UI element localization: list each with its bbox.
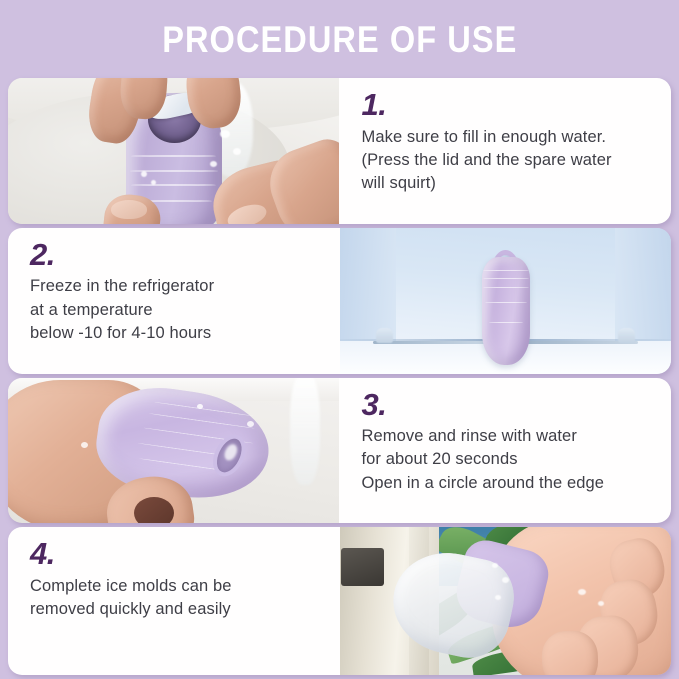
mold-ridge <box>483 270 529 271</box>
mold-pleat <box>155 401 254 416</box>
step-row-2: 2. Freeze in the refrigerator at a tempe… <box>8 228 671 374</box>
freezer-clip <box>618 328 635 343</box>
step-description: Freeze in the refrigerator at a temperat… <box>30 275 322 345</box>
mold-swirl <box>131 155 216 157</box>
step-1-text-panel: 1. Make sure to fill in enough water. (P… <box>339 78 671 224</box>
step-description: Complete ice molds can be removed quickl… <box>30 575 322 622</box>
step-row-1: 1. Make sure to fill in enough water. (P… <box>8 78 671 224</box>
photo-filling-mold-with-water <box>8 78 339 224</box>
step-number: 4. <box>30 538 322 571</box>
step-number: 2. <box>30 239 322 272</box>
steps-grid: 1. Make sure to fill in enough water. (P… <box>8 78 671 675</box>
mold-ridge <box>489 322 524 323</box>
header-bar: PROCEDURE OF USE <box>0 0 679 78</box>
step-text-line: Open in a circle around the edge <box>361 472 653 495</box>
step-4-text-panel: 4. Complete ice molds can be removed qui… <box>8 527 340 675</box>
step-text-line: will squirt) <box>361 172 653 195</box>
step-text-line: below -10 for 4-10 hours <box>30 322 322 345</box>
photo-rinsing-mold <box>8 378 339 524</box>
step-number: 3. <box>361 389 653 422</box>
water-droplet <box>81 442 88 448</box>
water-droplet <box>197 404 203 409</box>
step-text-line: for about 20 seconds <box>361 448 653 471</box>
step-text-line: Complete ice molds can be <box>30 575 322 598</box>
step-number: 1. <box>361 89 653 122</box>
step-description: Remove and rinse with water for about 20… <box>361 425 653 495</box>
water-stream <box>290 378 320 486</box>
fingernail <box>111 200 147 219</box>
step-2-text-panel: 2. Freeze in the refrigerator at a tempe… <box>8 228 340 374</box>
photo-finished-ice-mold <box>340 527 671 675</box>
step-description: Make sure to fill in enough water. (Pres… <box>361 126 653 196</box>
freezer-clip <box>376 328 393 343</box>
wall-vent <box>341 548 384 586</box>
mold-ridge <box>483 278 529 279</box>
page-title: PROCEDURE OF USE <box>162 21 517 58</box>
step-row-4: 4. Complete ice molds can be removed qui… <box>8 527 671 675</box>
silicone-mold <box>482 257 530 365</box>
step-text-line: Freeze in the refrigerator <box>30 275 322 298</box>
water-droplet <box>151 180 156 185</box>
step-text-line: (Press the lid and the spare water <box>361 149 653 172</box>
mold-ridge <box>483 287 529 288</box>
water-droplet <box>141 171 147 177</box>
step-3-text-panel: 3. Remove and rinse with water for about… <box>339 378 671 524</box>
water-droplet <box>492 563 498 568</box>
step-text-line: Remove and rinse with water <box>361 425 653 448</box>
mold-swirl <box>131 184 216 186</box>
water-droplet <box>247 421 254 427</box>
photo-mold-in-freezer <box>340 228 671 374</box>
mold-ridge <box>485 302 527 303</box>
step-row-3: 3. Remove and rinse with water for about… <box>8 378 671 524</box>
step-text-line: Make sure to fill in enough water. <box>361 126 653 149</box>
step-text-line: at a temperature <box>30 299 322 322</box>
finger-ring <box>134 497 174 523</box>
step-text-line: removed quickly and easily <box>30 598 322 621</box>
mold-pleat <box>149 413 255 429</box>
